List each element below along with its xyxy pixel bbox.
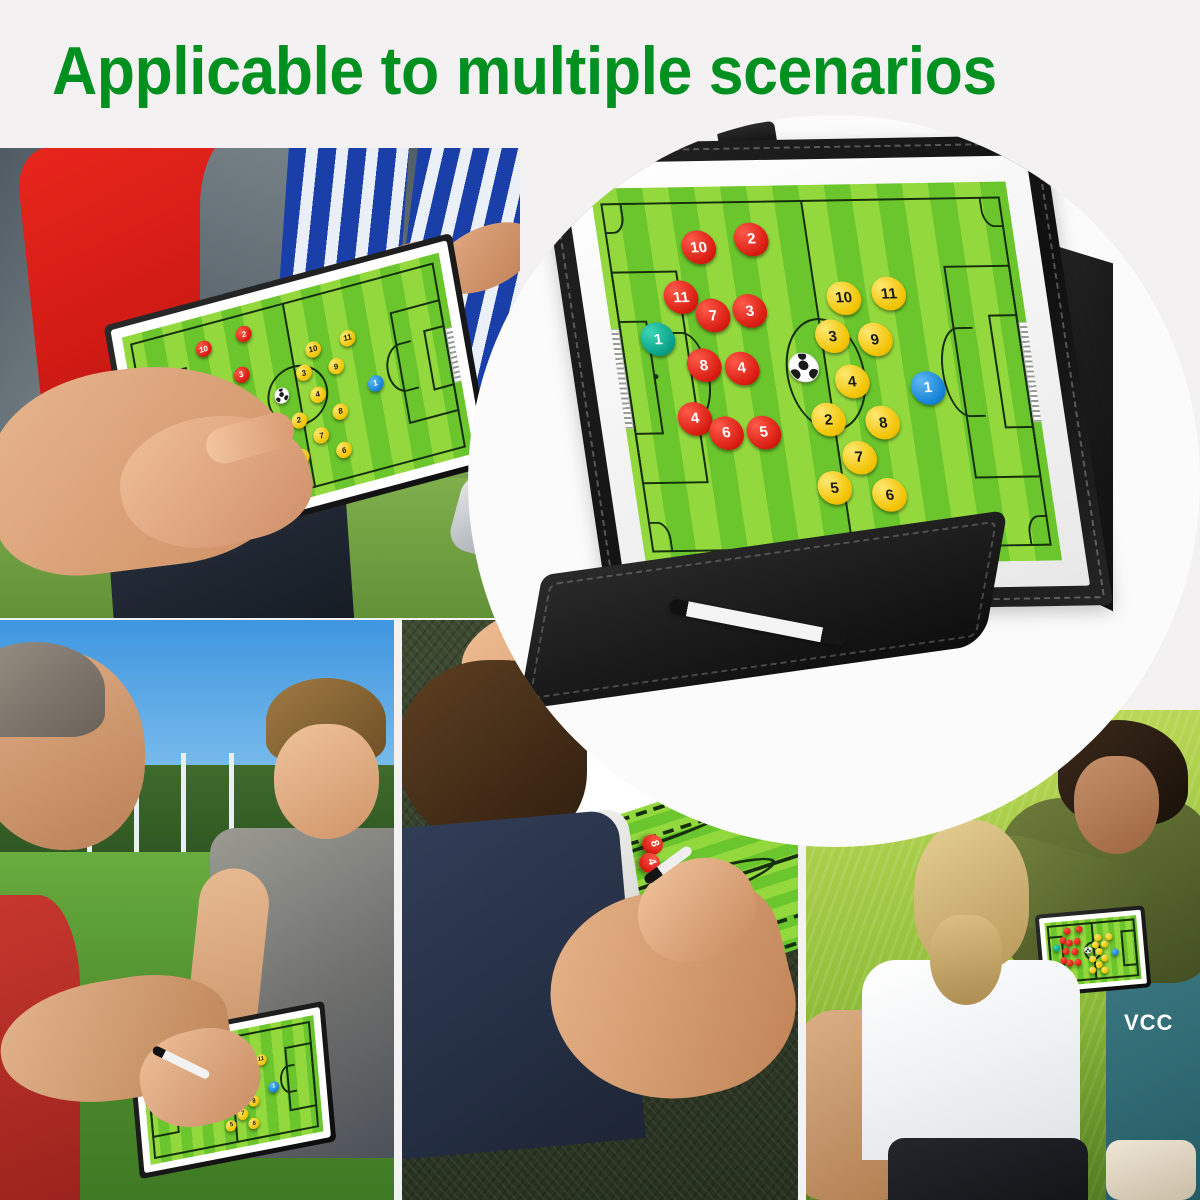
page-title: Applicable to multiple scenarios [52, 30, 1064, 112]
board-frame: 10211731844651011394287561 [562, 155, 1090, 593]
coach-player-outdoor-photo: 10211731844651011394287561 [0, 620, 394, 1200]
pitch-graphic: 10211731844651011394287561 [590, 181, 1062, 567]
soccer-ball-magnet[interactable] [1084, 946, 1092, 954]
seated-player-center [858, 820, 1078, 1200]
jersey-text: VCC [1124, 1010, 1173, 1036]
product-marketing-image: Applicable to multiple scenarios [0, 0, 1200, 1200]
coach-briefing-team-photo: 10211731844651011394287561 [0, 148, 520, 618]
product-hero-photo: 10211731844651011394287561 [468, 115, 1200, 847]
player-sock [1106, 1140, 1196, 1200]
